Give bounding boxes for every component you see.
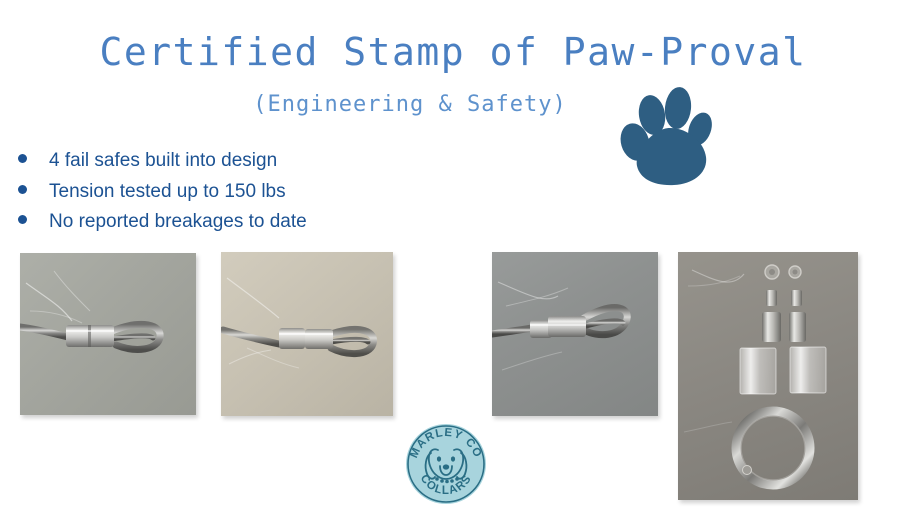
feature-bullet-list: 4 fail safes built into design Tension t… <box>18 148 448 240</box>
bullet-dot-icon <box>18 215 27 224</box>
list-item: 4 fail safes built into design <box>18 148 448 174</box>
product-photo-components <box>678 252 858 500</box>
list-item: Tension tested up to 150 lbs <box>18 179 448 205</box>
photo-artwork <box>678 252 858 500</box>
list-item: No reported breakages to date <box>18 209 448 235</box>
list-item-label: No reported breakages to date <box>49 209 307 235</box>
product-photo-cable-loop-2 <box>221 252 393 416</box>
list-item-label: 4 fail safes built into design <box>49 148 277 174</box>
page-title: Certified Stamp of Paw-Proval <box>0 32 906 74</box>
product-photo-cable-loop-3 <box>492 252 658 416</box>
photo-artwork <box>20 253 196 415</box>
bullet-dot-icon <box>18 185 27 194</box>
product-photo-cable-loop-1 <box>20 253 196 415</box>
photo-artwork <box>492 252 658 416</box>
paw-print-icon <box>608 84 718 194</box>
marley-co-collars-logo-badge: MARLEY CO COLLARS <box>404 422 488 506</box>
bullet-dot-icon <box>18 154 27 163</box>
slide-canvas: Certified Stamp of Paw-Proval (Engineeri… <box>0 0 906 511</box>
photo-artwork <box>221 252 393 416</box>
list-item-label: Tension tested up to 150 lbs <box>49 179 286 205</box>
